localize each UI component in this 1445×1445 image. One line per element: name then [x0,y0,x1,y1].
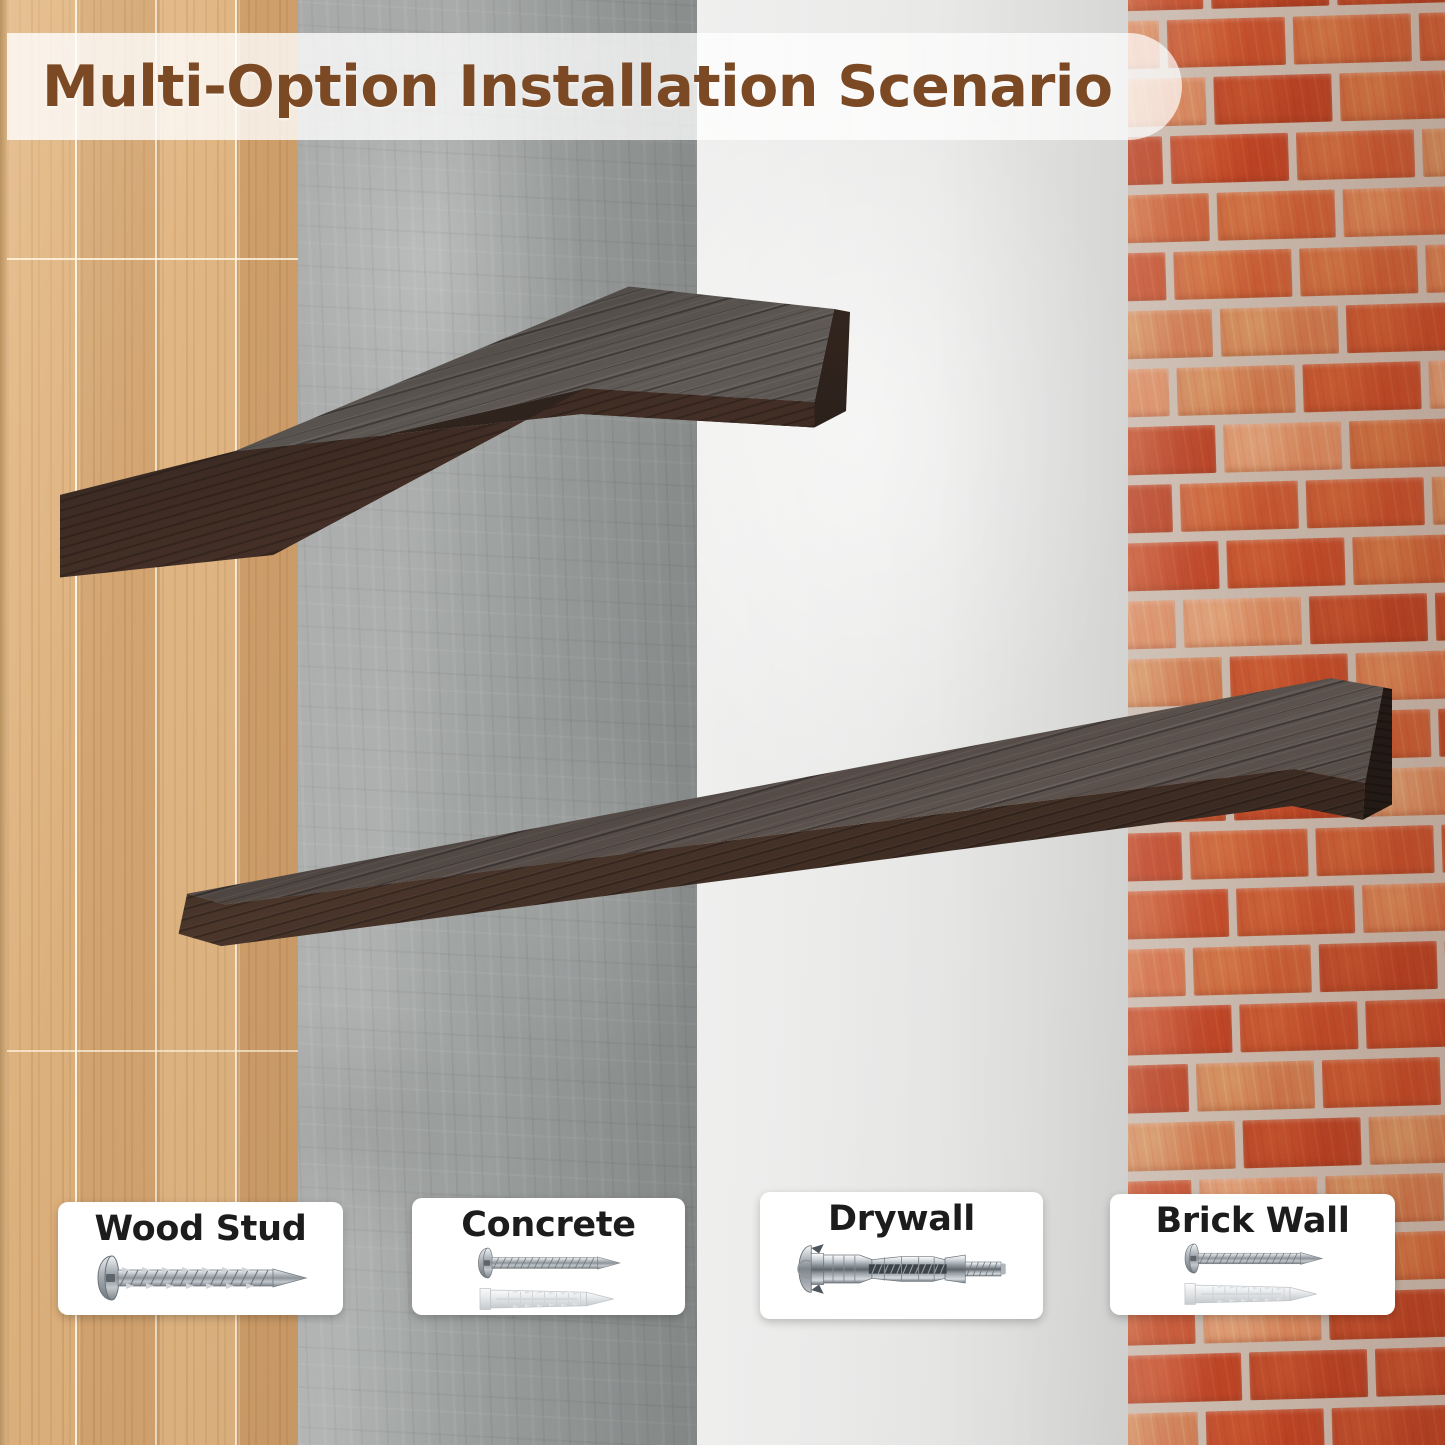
brick-row [1128,413,1445,482]
brick [1128,541,1220,592]
option-card-brick-wall[interactable]: Brick Wall [1110,1194,1395,1315]
brick [1342,186,1445,237]
lower-shelf-top-face [170,672,1392,980]
brick-row [1128,355,1445,424]
brick [1346,302,1445,353]
brick [1128,309,1213,360]
brick [1368,1114,1445,1165]
brick [1293,13,1412,64]
brick-row [1128,123,1445,192]
brick [1302,361,1421,412]
brick [1435,590,1445,641]
metal-hollow-wall-anchor-icon [784,1241,1019,1297]
brick [1128,1005,1233,1056]
brick-row [1128,181,1445,250]
wood-screw-icon [1167,1242,1339,1275]
brick [1349,418,1445,469]
plastic-wall-anchor-icon [1179,1279,1327,1309]
option-card-wood-stud[interactable]: Wood Stud [58,1202,343,1315]
page-title: Multi-Option Installation Scenario [42,54,1113,120]
brick [1128,136,1163,187]
upper-floating-shelf [60,285,850,585]
brick [1332,1405,1445,1445]
brick [1128,252,1167,303]
brick [1365,998,1445,1049]
wood-screw-icon [92,1253,310,1303]
brick [1309,593,1428,644]
brick [1217,189,1336,240]
brick [1220,305,1339,356]
brick [1438,706,1445,757]
brick [1242,1117,1361,1168]
brick [1336,0,1445,5]
wood-screw-icon [461,1246,636,1280]
brick [1223,421,1342,472]
brick-row [1128,587,1445,656]
option-card-label: Wood Stud [95,1209,307,1249]
brick [1296,129,1415,180]
brick [1128,1064,1189,1115]
brick [1322,1057,1441,1108]
brick [1128,600,1176,651]
brick [1249,1349,1368,1400]
brick [1128,0,1203,12]
installation-option-cards: Wood Stud [0,1196,1445,1321]
plastic-wall-anchor-icon [474,1284,624,1314]
brick [1213,74,1332,125]
brick [1422,126,1445,177]
brick-row [1128,297,1445,366]
brick [1128,425,1216,476]
brick [1170,133,1289,184]
installation-scenario-image: Multi-Option Installation Scenario Wood … [0,0,1445,1445]
brick [1210,0,1329,9]
brick [1339,70,1445,121]
brick [1432,474,1445,525]
option-card-concrete[interactable]: Concrete [412,1198,685,1315]
brick [1173,249,1292,300]
lower-floating-shelf [170,672,1392,980]
brick [1183,597,1302,648]
brick-row [1137,1340,1445,1409]
brick-row [1128,992,1445,1061]
brick [1299,245,1418,296]
brick [1352,534,1445,585]
option-card-label: Concrete [461,1205,635,1245]
brick [1180,481,1299,532]
brick-row [1130,1108,1445,1177]
brick [1176,365,1295,416]
brick [1419,10,1445,61]
brick-row [1128,529,1445,598]
brick [1206,1408,1325,1445]
brick [1128,368,1170,419]
brick [1167,17,1286,68]
title-banner: Multi-Option Installation Scenario [0,33,1182,140]
option-card-label: Drywall [828,1199,975,1239]
brick-row [1128,471,1445,540]
brick [1441,821,1445,872]
brick-row [1129,1050,1445,1119]
brick [1375,1346,1445,1397]
brick [1128,193,1210,244]
brick [1128,484,1173,535]
brick [1128,1412,1199,1445]
option-card-drywall[interactable]: Drywall [760,1192,1043,1319]
brick [1306,477,1425,528]
left-wood-edge-trim [0,0,7,1445]
brick [1196,1060,1315,1111]
brick [1226,537,1345,588]
brick [1428,358,1445,409]
brick [1239,1001,1358,1052]
brick [1425,242,1445,293]
brick-row [1128,239,1445,308]
option-card-label: Brick Wall [1155,1201,1349,1241]
brick [1128,1121,1236,1172]
brick [1128,1353,1242,1404]
